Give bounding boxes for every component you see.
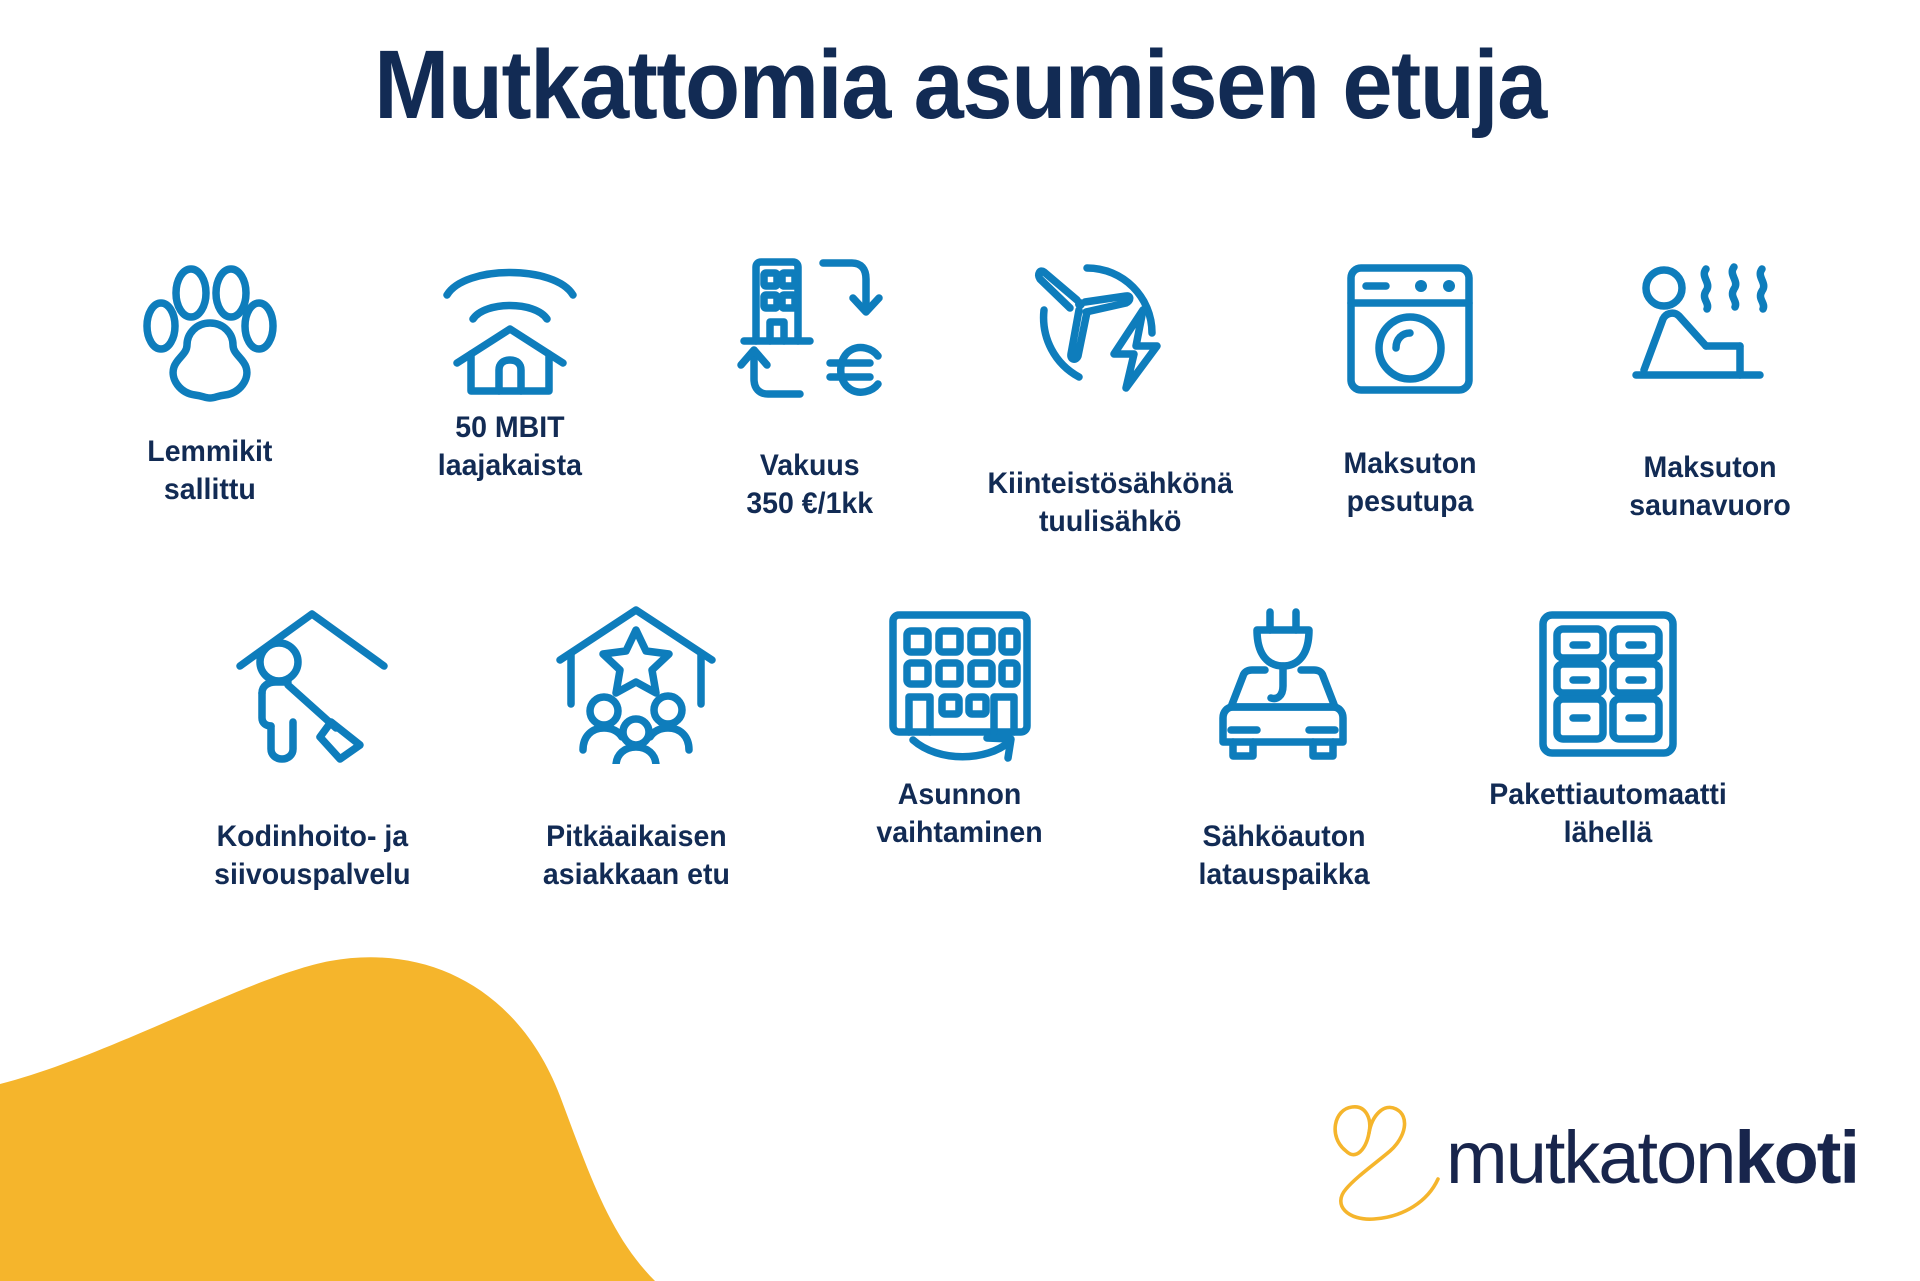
sauna-steam-icon bbox=[1630, 240, 1790, 415]
benefit-label: 50 MBIT laajakaista bbox=[438, 409, 582, 486]
benefit-item-loyalty: Pitkäaikaisen asiakkaan etu bbox=[474, 597, 798, 895]
brand-logo: mutkatonkoti bbox=[1322, 1093, 1858, 1223]
benefits-row-2: Kodinhoito- ja siivouspalvelu bbox=[0, 597, 1920, 895]
benefits-grid: Lemmikit sallittu 50 MBIT laajakaista bbox=[0, 240, 1920, 895]
brand-wordmark: mutkatonkoti bbox=[1446, 1121, 1858, 1195]
parcel-locker-icon bbox=[1533, 597, 1683, 772]
cleaning-service-icon bbox=[232, 597, 392, 772]
benefit-item-windpower: Kiinteistösähkönä tuulisähkö bbox=[960, 240, 1260, 542]
benefit-item-deposit: Vakuus 350 €/1kk bbox=[660, 240, 960, 524]
benefit-label: Pakettiautomaatti lähellä bbox=[1489, 776, 1727, 853]
paw-print-icon bbox=[135, 240, 285, 415]
apartment-swap-icon bbox=[883, 597, 1038, 772]
benefit-label: Pitkäaikaisen asiakkaan etu bbox=[543, 818, 730, 895]
page-title: Mutkattomia asumisen etuja bbox=[67, 34, 1853, 136]
benefit-label: Asunnon vaihtaminen bbox=[877, 776, 1043, 853]
ev-charging-icon bbox=[1209, 597, 1359, 772]
brand-name-light: mutkaton bbox=[1446, 1116, 1734, 1199]
loyalty-family-icon bbox=[554, 597, 719, 772]
benefit-item-laundry: Maksuton pesutupa bbox=[1260, 240, 1560, 522]
heart-swoosh-icon bbox=[1322, 1093, 1442, 1223]
benefit-item-ev-charging: Sähköauton latauspaikka bbox=[1122, 597, 1446, 895]
benefit-item-sauna: Maksuton saunavuoro bbox=[1560, 240, 1860, 526]
benefit-item-pets: Lemmikit sallittu bbox=[60, 240, 360, 510]
benefit-label: Maksuton saunavuoro bbox=[1629, 449, 1791, 526]
benefit-label: Kiinteistösähkönä tuulisähkö bbox=[987, 465, 1232, 542]
benefit-label: Sähköauton latauspaikka bbox=[1198, 818, 1369, 895]
benefit-label: Vakuus 350 €/1kk bbox=[747, 447, 874, 524]
benefit-item-parcel-locker: Pakettiautomaatti lähellä bbox=[1446, 597, 1770, 853]
benefit-label: Maksuton pesutupa bbox=[1343, 445, 1476, 522]
wifi-house-icon bbox=[435, 240, 585, 415]
wind-power-icon bbox=[1030, 240, 1190, 415]
washing-machine-icon bbox=[1335, 240, 1485, 415]
benefits-row-1: Lemmikit sallittu 50 MBIT laajakaista bbox=[0, 240, 1920, 542]
page-title-wrapper: Mutkattomia asumisen etuja bbox=[0, 34, 1920, 136]
benefit-label: Lemmikit sallittu bbox=[147, 433, 272, 510]
benefit-item-apartment-swap: Asunnon vaihtaminen bbox=[798, 597, 1122, 853]
decorative-yellow-blob bbox=[0, 921, 700, 1281]
benefit-item-broadband: 50 MBIT laajakaista bbox=[360, 240, 660, 486]
brand-name-bold: koti bbox=[1734, 1116, 1858, 1199]
benefit-label: Kodinhoito- ja siivouspalvelu bbox=[214, 818, 410, 895]
deposit-euro-icon bbox=[730, 240, 890, 415]
benefit-item-cleaning: Kodinhoito- ja siivouspalvelu bbox=[150, 597, 474, 895]
